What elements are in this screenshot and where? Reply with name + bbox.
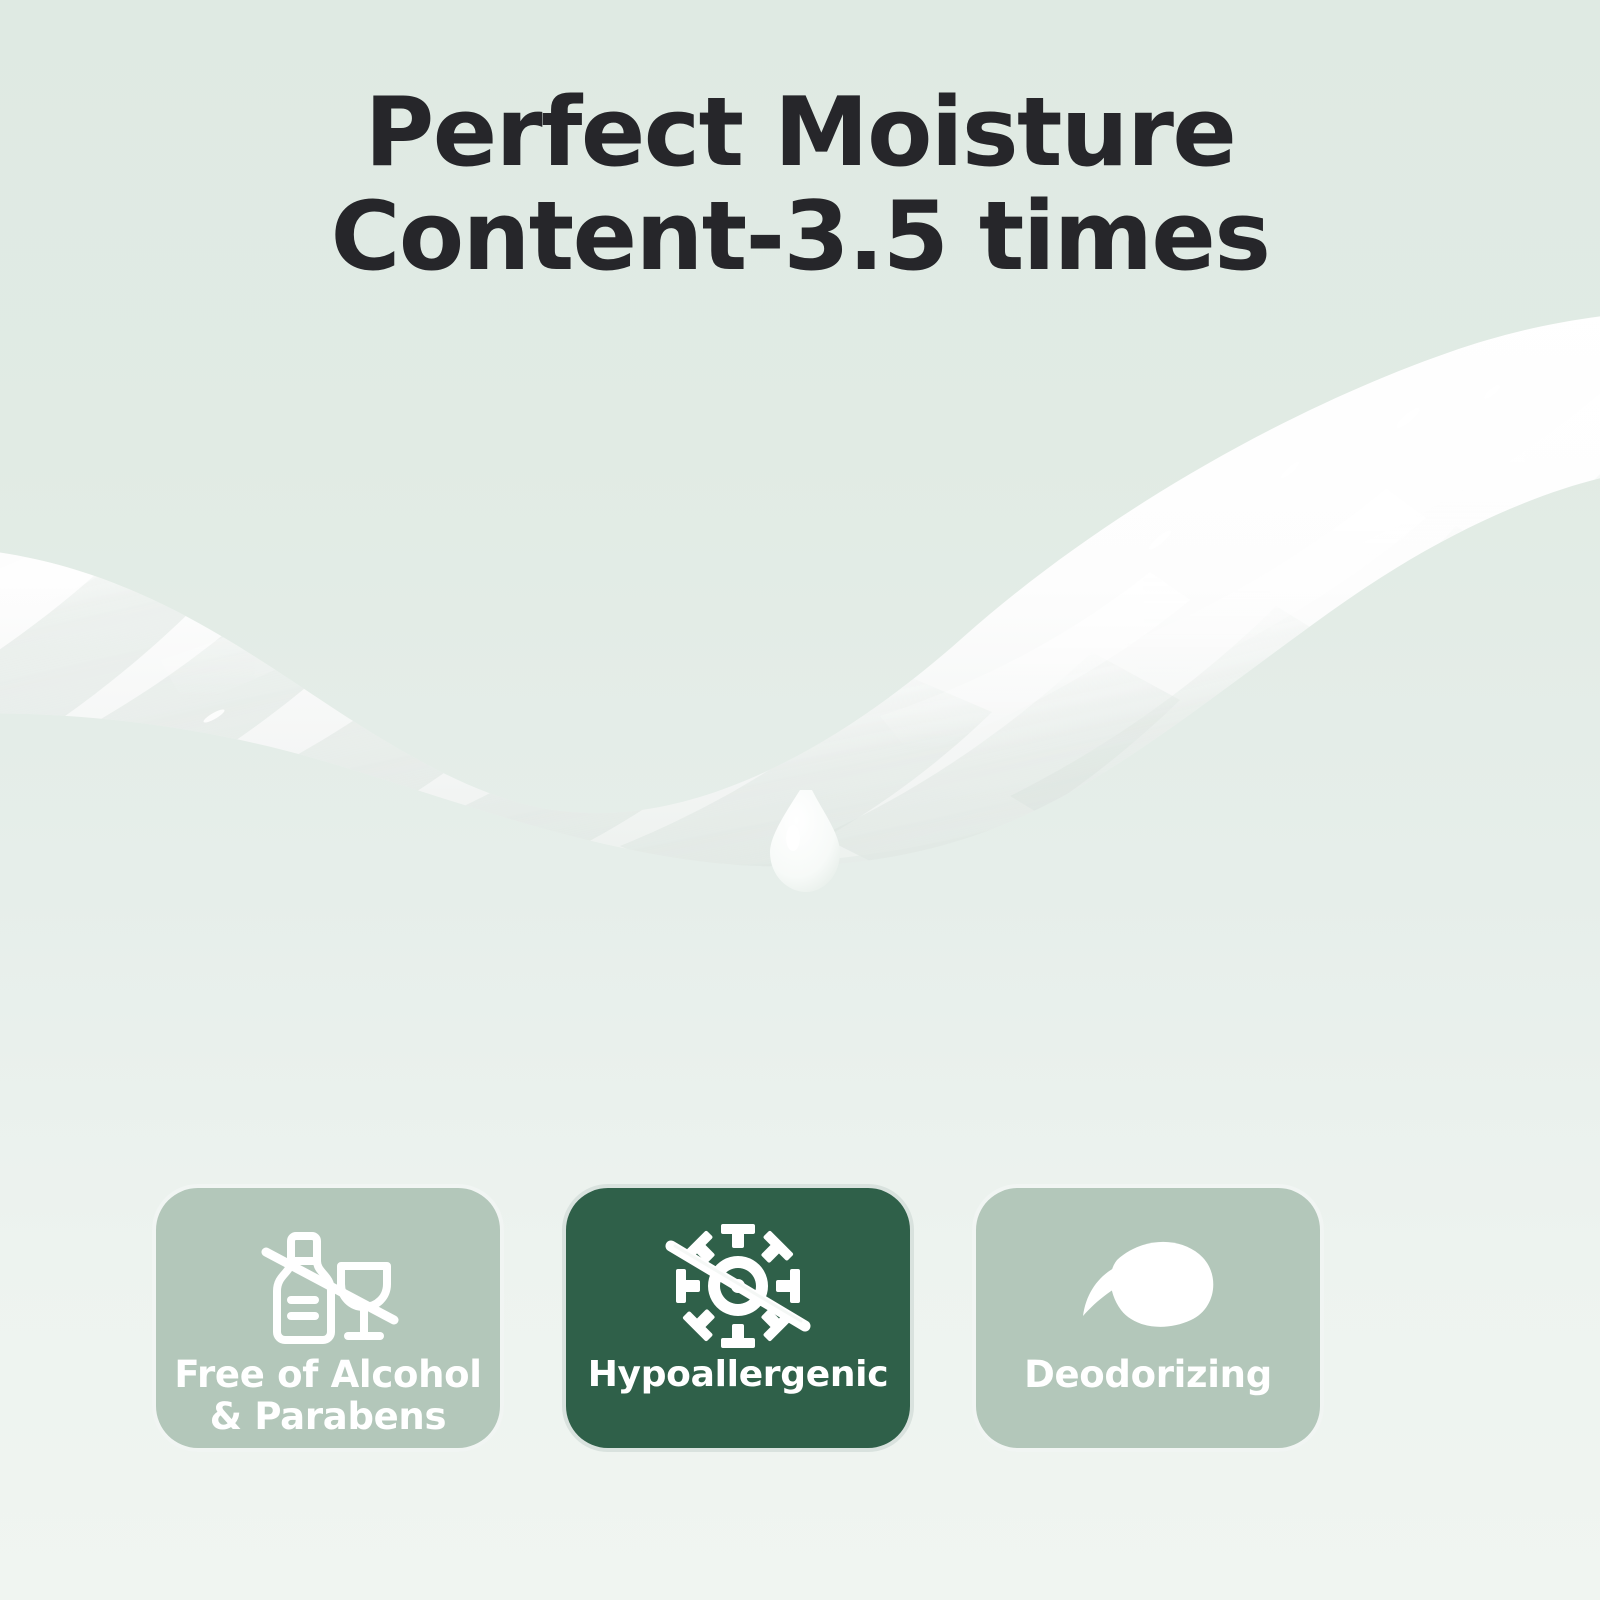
- cream-droplet: [770, 790, 840, 892]
- leaf-icon: [1071, 1222, 1225, 1350]
- no-allergen-virus-icon: [661, 1222, 815, 1350]
- page-title: Perfect Moisture Content-3.5 times: [0, 82, 1600, 289]
- badge-label: Free of Alcohol & Parabens: [164, 1354, 491, 1438]
- badge-free-of-alcohol-parabens[interactable]: Free of Alcohol & Parabens: [152, 1184, 504, 1452]
- badge-label: Deodorizing: [1014, 1354, 1282, 1396]
- badge-label: Hypoallergenic: [578, 1354, 899, 1395]
- badge-hypoallergenic[interactable]: Hypoallergenic: [562, 1184, 914, 1452]
- feature-badge-row: Free of Alcohol & Parabens: [152, 1184, 1464, 1452]
- badge-deodorizing[interactable]: Deodorizing: [972, 1184, 1324, 1452]
- no-alcohol-icon: [251, 1222, 405, 1350]
- product-feature-poster: Perfect Moisture Content-3.5 times: [0, 0, 1600, 1600]
